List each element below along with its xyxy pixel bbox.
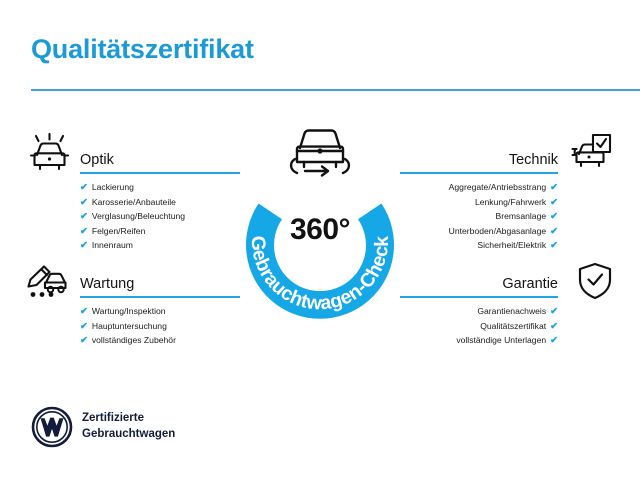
checklist-item: Lenkung/Fahrwerk✔ xyxy=(400,195,558,210)
svg-text:Gebrauchtwagen-Check: Gebrauchtwagen-Check xyxy=(247,235,393,314)
header-divider xyxy=(31,89,640,91)
footer-text: Zertifizierte Gebrauchtwagen xyxy=(82,411,175,442)
footer-line-1: Zertifizierte xyxy=(82,411,175,427)
section-technik-header: Technik xyxy=(400,144,558,168)
section-technik: Technik Aggregate/Antriebsstrang✔Lenkung… xyxy=(400,144,558,253)
check-icon: ✔ xyxy=(550,210,558,221)
section-technik-title: Technik xyxy=(509,152,558,168)
checklist-item: ✔Verglasung/Beleuchtung xyxy=(80,209,240,224)
checklist-item: vollständige Unterlagen✔ xyxy=(400,333,558,348)
page-title: Qualitätszertifikat xyxy=(31,34,254,65)
check-icon: ✔ xyxy=(550,239,558,250)
checklist-item: Unterboden/Abgasanlage✔ xyxy=(400,224,558,239)
section-optik: Optik ✔Lackierung✔Karosserie/Anbauteile✔… xyxy=(80,144,240,253)
section-garantie-title: Garantie xyxy=(502,276,558,292)
checklist-item-label: Innenraum xyxy=(92,240,133,250)
checklist-item: ✔Hauptuntersuchung xyxy=(80,319,240,334)
section-garantie-header: Garantie xyxy=(400,268,558,292)
checklist-item-label: Garantienachweis xyxy=(477,306,546,316)
checklist-item: ✔Innenraum xyxy=(80,238,240,253)
checklist-item-label: vollständige Unterlagen xyxy=(456,335,546,345)
section-garantie-list: Garantienachweis✔Qualitätszertifikat✔vol… xyxy=(400,304,558,348)
checklist-item-label: Verglasung/Beleuchtung xyxy=(92,211,185,221)
checklist-item: Sicherheit/Elektrik✔ xyxy=(400,238,558,253)
checklist-item-label: Bremsanlage xyxy=(496,211,547,221)
checklist-item: ✔Wartung/Inspektion xyxy=(80,304,240,319)
checklist-item: ✔Karosserie/Anbauteile xyxy=(80,195,240,210)
checklist-item: ✔Lackierung xyxy=(80,180,240,195)
check-icon: ✔ xyxy=(80,334,88,345)
section-garantie-divider xyxy=(400,296,558,298)
check-icon: ✔ xyxy=(80,196,88,207)
checklist-item: Bremsanlage✔ xyxy=(400,209,558,224)
checklist-item: Garantienachweis✔ xyxy=(400,304,558,319)
badge-degrees-label: 360° xyxy=(228,213,412,247)
checklist-item-label: Aggregate/Antriebsstrang xyxy=(449,182,546,192)
checklist-item-label: Felgen/Reifen xyxy=(92,226,146,236)
section-optik-title: Optik xyxy=(80,152,114,168)
section-optik-list: ✔Lackierung✔Karosserie/Anbauteile✔Vergla… xyxy=(80,180,240,253)
section-technik-divider xyxy=(400,172,558,174)
check-icon: ✔ xyxy=(550,196,558,207)
section-wartung-title: Wartung xyxy=(80,276,134,292)
checklist-item: Qualitätszertifikat✔ xyxy=(400,319,558,334)
vw-logo xyxy=(31,406,73,448)
section-garantie: Garantie Garantienachweis✔Qualitätszerti… xyxy=(400,268,558,348)
check-icon: ✔ xyxy=(80,181,88,192)
section-wartung: Wartung ✔Wartung/Inspektion✔Hauptuntersu… xyxy=(80,268,240,348)
checklist-item-label: Wartung/Inspektion xyxy=(92,306,166,316)
car-checkbox-icon xyxy=(568,132,614,172)
checklist-item-label: Hauptuntersuchung xyxy=(92,321,167,331)
check-icon: ✔ xyxy=(550,334,558,345)
checklist-item-label: Lenkung/Fahrwerk xyxy=(475,197,546,207)
check-icon: ✔ xyxy=(80,225,88,236)
checklist-item: ✔vollständiges Zubehör xyxy=(80,333,240,348)
pen-car-icon xyxy=(24,262,70,302)
check-icon: ✔ xyxy=(550,225,558,236)
section-optik-divider xyxy=(80,172,240,174)
checklist-item-label: Karosserie/Anbauteile xyxy=(92,197,176,207)
checklist-item-label: Lackierung xyxy=(92,182,134,192)
checklist-item-label: Unterboden/Abgasanlage xyxy=(449,226,546,236)
check-icon: ✔ xyxy=(80,210,88,221)
section-technik-list: Aggregate/Antriebsstrang✔Lenkung/Fahrwer… xyxy=(400,180,558,253)
car-shine-icon xyxy=(27,133,73,173)
check-icon: ✔ xyxy=(80,305,88,316)
section-wartung-list: ✔Wartung/Inspektion✔Hauptuntersuchung✔vo… xyxy=(80,304,240,348)
check-icon: ✔ xyxy=(550,320,558,331)
check-icon: ✔ xyxy=(80,320,88,331)
car-rotation-icon xyxy=(283,121,357,183)
checklist-item-label: Sicherheit/Elektrik xyxy=(477,240,546,250)
section-wartung-header: Wartung xyxy=(80,268,240,292)
badge-curved-label: Gebrauchtwagen-Check xyxy=(247,235,393,314)
shield-check-icon xyxy=(572,261,618,301)
checklist-item: Aggregate/Antriebsstrang✔ xyxy=(400,180,558,195)
check-icon: ✔ xyxy=(80,239,88,250)
check-icon: ✔ xyxy=(550,181,558,192)
checklist-item: ✔Felgen/Reifen xyxy=(80,224,240,239)
footer-line-2: Gebrauchtwagen xyxy=(82,427,175,443)
checklist-item-label: vollständiges Zubehör xyxy=(92,335,176,345)
check-icon: ✔ xyxy=(550,305,558,316)
checklist-item-label: Qualitätszertifikat xyxy=(480,321,546,331)
section-wartung-divider xyxy=(80,296,240,298)
badge-360-arc: Gebrauchtwagen-Check xyxy=(228,156,412,340)
section-optik-header: Optik xyxy=(80,144,240,168)
